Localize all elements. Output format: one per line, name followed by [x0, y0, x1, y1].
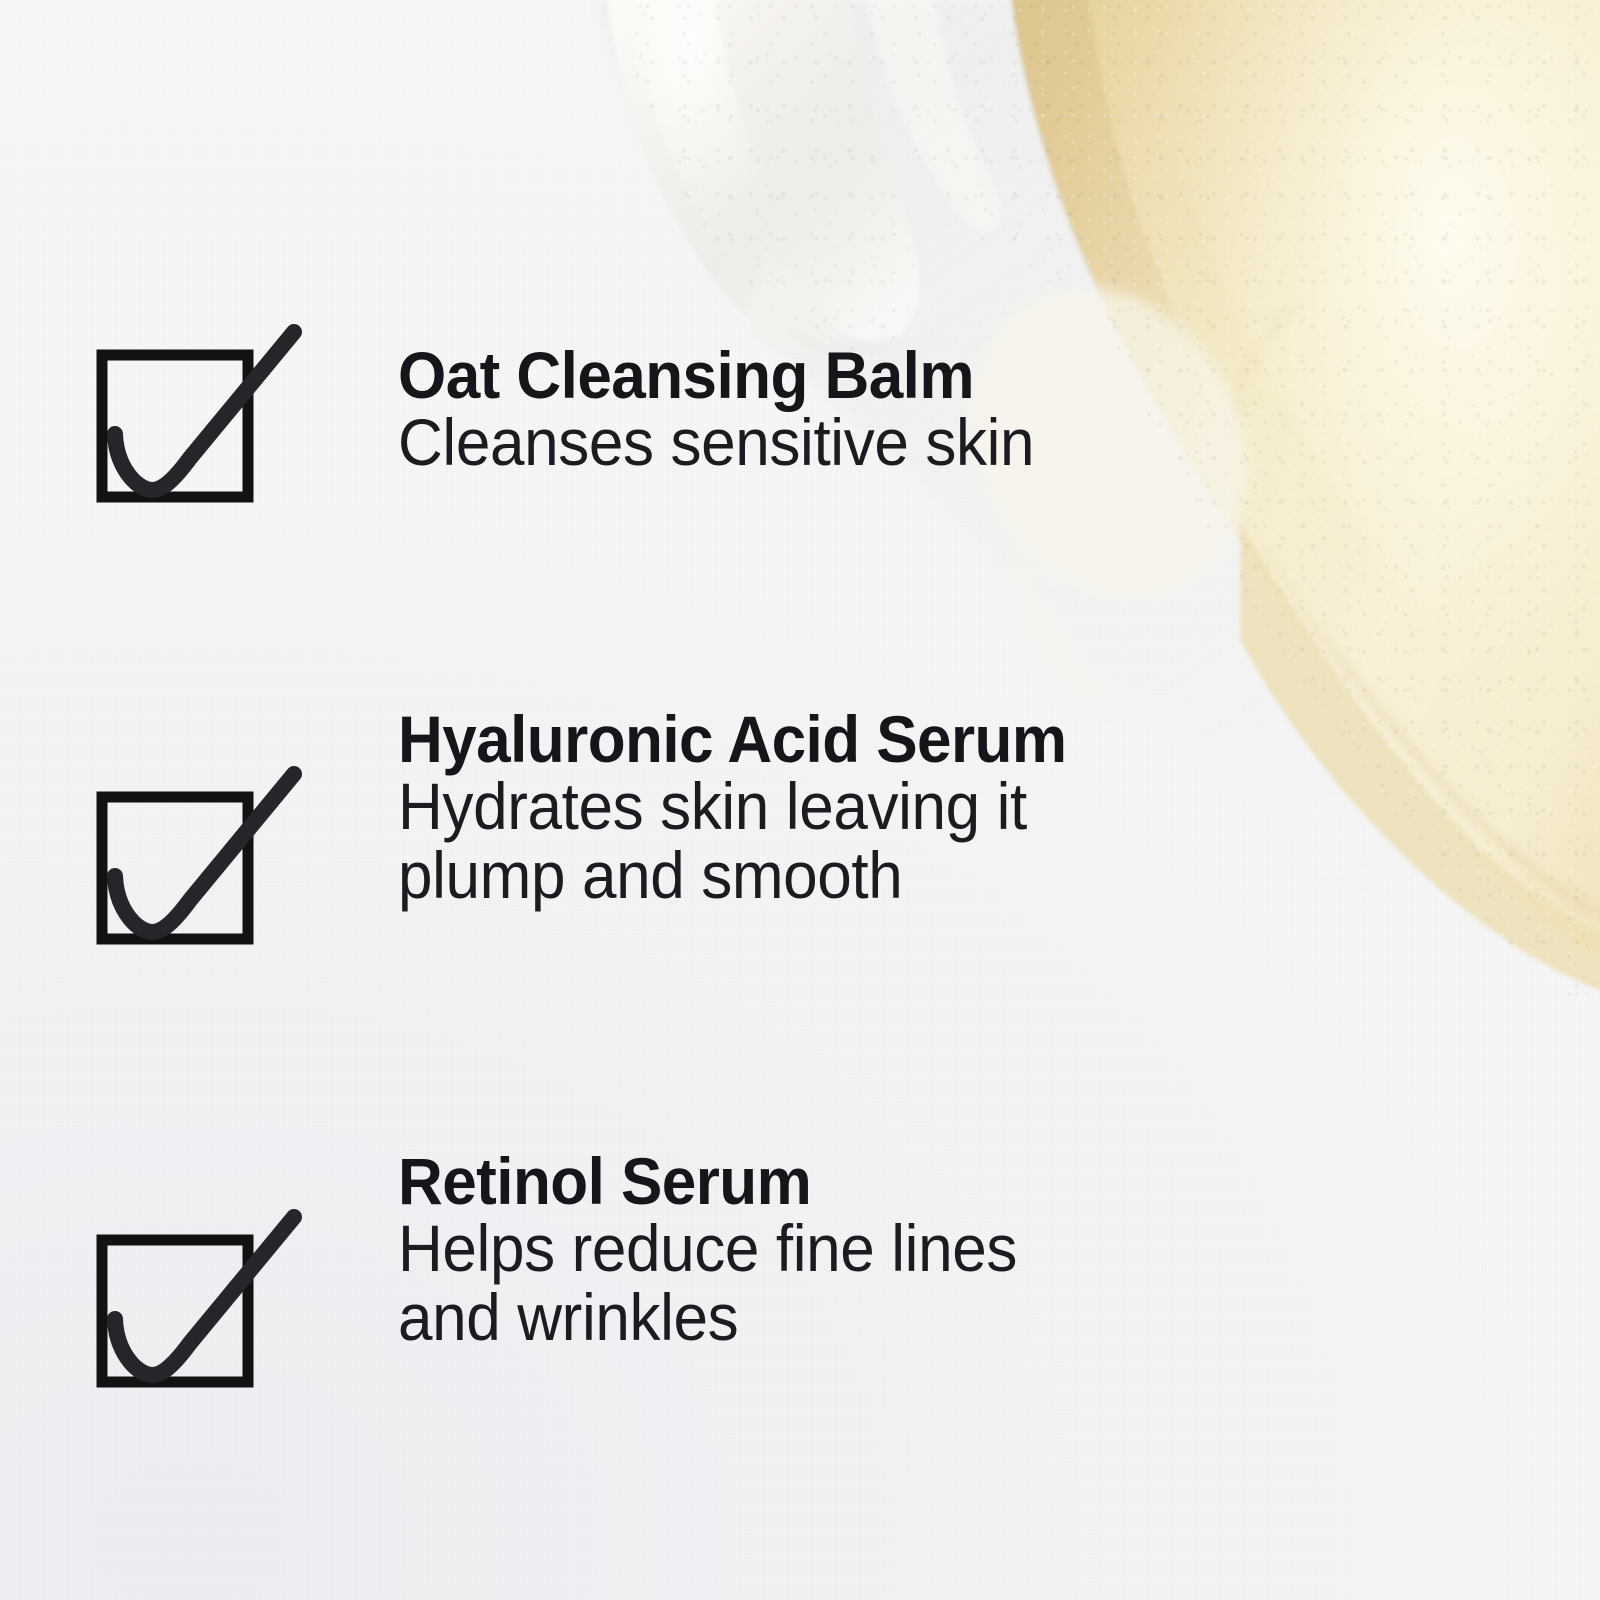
- list-item-description: Hydrates skin leaving it plump and smoot…: [398, 772, 1112, 909]
- description-line: plump and smooth: [398, 841, 1112, 910]
- poster-canvas: Oat Cleansing Balm Cleanses sensitive sk…: [0, 0, 1600, 1600]
- list-item-text: Hyaluronic Acid Serum Hydrates skin leav…: [398, 706, 1158, 909]
- checkbox-checked-icon[interactable]: [94, 780, 294, 970]
- description-line: and wrinkles: [398, 1283, 1112, 1352]
- checkbox-checked-icon[interactable]: [94, 338, 294, 528]
- checkbox-checked-icon[interactable]: [94, 1223, 294, 1413]
- description-line: Hydrates skin leaving it: [398, 772, 1112, 841]
- description-line: Helps reduce fine lines: [398, 1214, 1112, 1283]
- product-checklist: Oat Cleansing Balm Cleanses sensitive sk…: [0, 0, 1600, 1600]
- list-item-text: Oat Cleansing Balm Cleanses sensitive sk…: [398, 342, 1158, 477]
- description-line: Cleanses sensitive skin: [398, 408, 1112, 477]
- list-item-description: Helps reduce fine lines and wrinkles: [398, 1214, 1112, 1351]
- list-item-description: Cleanses sensitive skin: [398, 408, 1112, 477]
- list-item-text: Retinol Serum Helps reduce fine lines an…: [398, 1148, 1158, 1351]
- list-item-title: Hyaluronic Acid Serum: [398, 706, 1112, 772]
- list-item-title: Retinol Serum: [398, 1148, 1112, 1214]
- list-item-title: Oat Cleansing Balm: [398, 342, 1112, 408]
